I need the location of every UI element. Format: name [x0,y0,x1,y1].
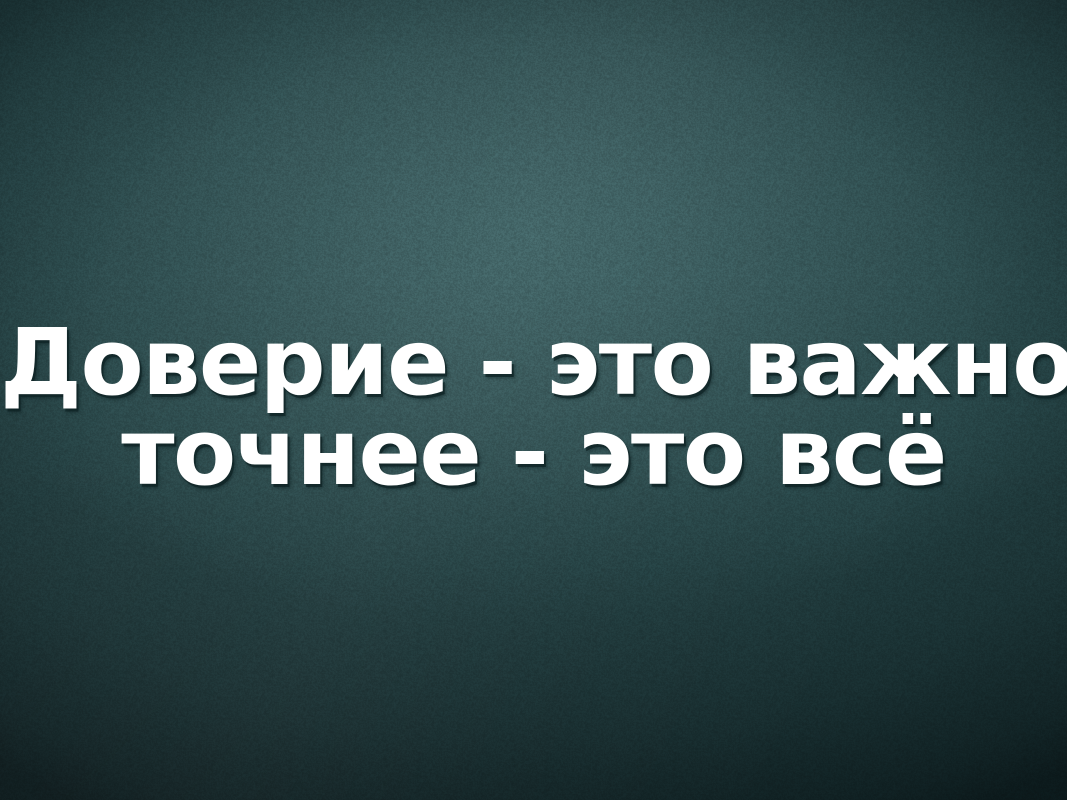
quote-line-1: Доверие - это важно, [0,318,1067,408]
quote-text-block: Доверие - это важно, точнее - это всё [0,318,1067,498]
quote-image-canvas: Доверие - это важно, точнее - это всё [0,0,1067,800]
quote-line-2: точнее - это всё [0,408,1067,498]
